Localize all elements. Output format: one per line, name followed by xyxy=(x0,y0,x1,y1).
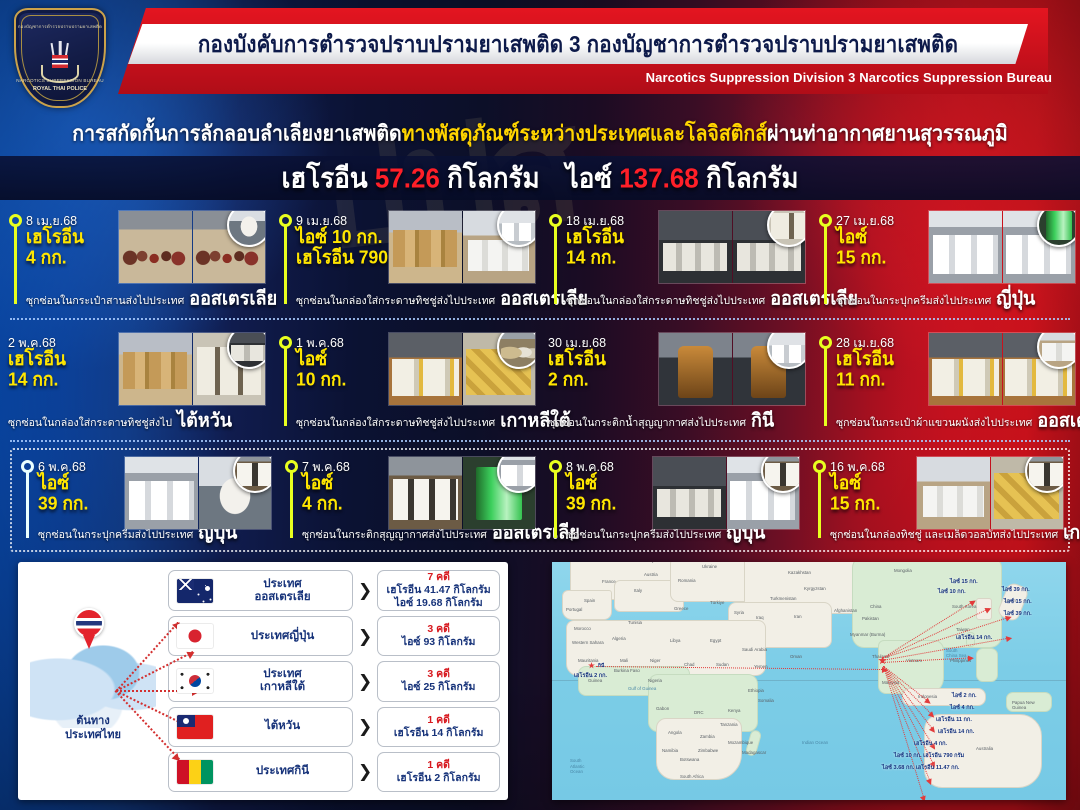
case-amount: ไอซ์ 10 กก. xyxy=(296,349,346,390)
map-route-label-guinea-country: กินี xyxy=(598,662,604,670)
case-description-row: ซุกซ่อนในกล่องใส่กระดาษทิชชู่ส่งไปประเทศ… xyxy=(566,283,806,312)
map-country-label: Algeria xyxy=(612,636,626,641)
destination-stat-line: เฮโรอีน 14 กิโลกรัม xyxy=(394,727,484,740)
timeline-pin-icon xyxy=(819,336,833,426)
map-route-label: ไอซ์ 15 กก. xyxy=(1004,598,1032,606)
case-card[interactable]: 7 พ.ค.68 ไอซ์ 4 กก. ซุกซ่อนในกระติกสุญญา… xyxy=(276,450,540,550)
thailand-origin-map: ต้นทาง ประเทศไทย xyxy=(18,562,168,800)
map-country-label: Afghanistan xyxy=(834,608,857,613)
map-route-label: ไอซ์ 15 กก. xyxy=(950,578,978,586)
evidence-photo xyxy=(119,333,192,405)
timeline-pin-icon xyxy=(819,214,833,304)
total-ice-unit: กิโลกรัม xyxy=(706,161,799,193)
timeline-pin-icon xyxy=(549,214,563,304)
origin-arrow xyxy=(116,622,179,692)
destination-country-box[interactable]: ประเทศกินี xyxy=(168,752,353,792)
case-description-row: ซุกซ่อนในกระเป๋าสานส่งไปประเทศ ออสเตรเลี… xyxy=(26,283,266,312)
map-route-label: ไอซ์ 39 กก. xyxy=(1004,610,1032,618)
total-heroin: เฮโรอีน 57.26 กิโลกรัม xyxy=(282,156,540,200)
timeline-pin-icon xyxy=(279,336,293,426)
destination-stats-box: 7 คดี เฮโรอีน 41.47 กิโลกรัม ไอซ์ 19.68 … xyxy=(377,570,500,611)
case-card[interactable]: 30 เม.ย.68 เฮโรอีน 2 กก. ซุกซ่อนในกระติก… xyxy=(540,326,810,438)
map-country-label: Greece xyxy=(674,606,688,611)
map-country-label: Egypt xyxy=(710,638,721,643)
map-route-label: เฮโรอีน 14 กก. xyxy=(956,634,992,642)
case-description-row: ซุกซ่อนในกล่องใส่กระดาษทิชชู่ส่งไปประเทศ… xyxy=(296,283,536,312)
case-card[interactable]: 8 พ.ค.68 ไอซ์ 39 กก. ซุกซ่อนในกระปุกครีม… xyxy=(540,450,804,550)
map-country-label: Germany xyxy=(636,562,654,563)
flag-australia-icon xyxy=(177,579,213,603)
map-country-label: Iraq xyxy=(756,615,764,620)
map-country-label: Saudi Arabia xyxy=(742,647,767,652)
map-country-label: Western Sahara xyxy=(572,640,604,645)
map-country-label: Iran xyxy=(794,614,802,619)
chevron-right-icon: ❯ xyxy=(358,673,372,690)
map-country-label: Papua New Guinea xyxy=(1012,700,1042,710)
destination-stats-box: 1 คดี เฮโรอีน 2 กิโลกรัม xyxy=(377,752,500,792)
destination-country-name: ประเทศกินี xyxy=(221,765,344,778)
badge-arc-bottom-text-2: ROYAL THAI POLICE xyxy=(14,86,106,92)
destination-stats-box: 1 คดี เฮโรอีน 14 กิโลกรัม xyxy=(377,707,500,747)
map-country-label: Angola xyxy=(668,730,682,735)
timeline-pin-icon xyxy=(549,460,563,538)
destination-country-box[interactable]: ประเทศญี่ปุ่น xyxy=(168,616,353,656)
case-evidence-photos[interactable] xyxy=(658,332,806,406)
case-row-2: 2 พ.ค.68 เฮโรอีน 14 กก. ซุกซ่อนในกล่องใส… xyxy=(0,326,1080,438)
chevron-right-icon: ❯ xyxy=(358,628,372,645)
total-heroin-label: เฮโรอีน xyxy=(282,161,368,193)
page-header: กองบังคับการตำรวจปราบปรามยาเสพติด 3 กองบ… xyxy=(0,0,1080,108)
total-heroin-value: 57.26 xyxy=(375,161,440,193)
case-card[interactable]: 2 พ.ค.68 เฮโรอีน 14 กก. ซุกซ่อนในกล่องใส… xyxy=(0,326,270,438)
destination-rows: ประเทศ ออสเตรเลีย ❯ 7 คดี เฮโรอีน 41.47 … xyxy=(168,562,508,800)
map-country-label: Kenya xyxy=(728,708,740,713)
destination-country-box[interactable]: ประเทศ ออสเตรเลีย xyxy=(168,570,353,611)
evidence-photo xyxy=(929,211,1002,283)
map-country-label: Turkmenistan xyxy=(770,596,796,601)
case-method: ซุกซ่อนในกล่องใส่กระดาษทิชชู่ส่งไปประเทศ xyxy=(296,292,495,309)
map-country-label: Gabon xyxy=(656,706,669,711)
map-country-label: Botswana xyxy=(680,757,699,762)
map-route-label: ไอซ์ 2 กก. xyxy=(952,692,977,700)
case-destination: ญี่ปุ่น xyxy=(996,282,1035,312)
case-method: ซุกซ่อนในกล่องใส่กระดาษทิชชู่ส่งไป xyxy=(8,414,172,431)
case-evidence-photos[interactable] xyxy=(928,332,1076,406)
map-country-label: South Africa xyxy=(680,774,704,779)
case-amount: ไอซ์ 39 กก. xyxy=(38,473,88,514)
total-ice: ไอซ์ 137.68 กิโลกรัม xyxy=(566,156,799,200)
map-country-label: Nigeria xyxy=(648,678,662,683)
total-ice-label: ไอซ์ xyxy=(566,161,612,193)
map-route-label: เฮโรอีน 14 กก. xyxy=(938,728,974,736)
origin-arrow xyxy=(115,690,181,760)
case-evidence-photos[interactable] xyxy=(388,456,536,530)
case-amount: เฮโรอีน 2 กก. xyxy=(548,349,606,390)
case-method: ซุกซ่อนในกล่องใส่กระดาษทิชชู่ส่งไปประเทศ xyxy=(566,292,765,309)
chevron-right-icon: ❯ xyxy=(358,582,372,599)
case-destination: เกาหลีใต้ xyxy=(1063,516,1080,546)
case-timeline: 8 เม.ย.68 เฮโรอีน 4 กก. ซุกซ่อนในกระเป๋า… xyxy=(0,200,1080,555)
world-trafficking-map[interactable]: Germany Ukraine Kazakhstan Mongolia Fran… xyxy=(552,562,1066,800)
destination-case-count: 7 คดี xyxy=(427,571,450,584)
case-method: ซุกซ่อนในกล่องใส่กระดาษทิชชู่ส่งไปประเทศ xyxy=(296,414,495,431)
case-evidence-photos[interactable] xyxy=(916,456,1064,530)
case-amount: ไอซ์ 15 กก. xyxy=(836,227,886,268)
map-country-label: Zambia xyxy=(700,734,715,739)
destination-country-box[interactable]: ไต้หวัน xyxy=(168,707,353,747)
evidence-photo xyxy=(389,333,462,405)
map-country-label: Morocco xyxy=(574,626,591,631)
case-evidence-photos[interactable] xyxy=(118,210,266,284)
mission-banner-part2: ผ่านท่าอากาศยานสุวรรณภูมิ xyxy=(767,116,1008,150)
map-country-label: Kazakhstan xyxy=(788,570,811,575)
timeline-pin-icon xyxy=(813,460,827,538)
destination-stat-line: เฮโรอีน 41.47 กิโลกรัม xyxy=(387,584,491,597)
destination-case-count: 1 คดี xyxy=(427,759,450,772)
case-method: ซุกซ่อนในกระปุกครีมส่งไปประเทศ xyxy=(836,292,991,309)
map-country-label: Zimbabwe xyxy=(698,748,718,753)
case-card[interactable]: 9 เม.ย.68 ไอซ์ 10 กก. เฮโรอีน 790 กรัม ซ… xyxy=(270,204,540,316)
case-row-1: 8 เม.ย.68 เฮโรอีน 4 กก. ซุกซ่อนในกระเป๋า… xyxy=(0,204,1080,316)
destination-country-name: ประเทศ เกาหลีใต้ xyxy=(221,668,344,694)
case-amount: เฮโรอีน 14 กก. xyxy=(566,227,624,268)
map-route-label: ไอซ์ 3.68 กก. เฮโรอีน 11.47 กก. xyxy=(882,764,960,772)
map-country-label: Australia xyxy=(976,746,993,751)
case-row-3: 6 พ.ค.68 ไอซ์ 39 กก. ซุกซ่อนในกระปุกครีม… xyxy=(10,448,1070,552)
destination-stat-line: ไอซ์ 19.68 กิโลกรัม xyxy=(395,597,483,610)
case-amount: ไอซ์ 15 กก. xyxy=(830,473,880,514)
page-subtitle-english: Narcotics Suppression Division 3 Narcoti… xyxy=(352,64,1052,90)
mission-banner-part1: การสกัดกั้นการลักลอบลำเลียงยาเสพติด xyxy=(72,116,401,150)
destination-case-count: 3 คดี xyxy=(427,623,450,636)
destination-row[interactable]: ไต้หวัน ❯ 1 คดี เฮโรอีน 14 กิโลกรัม xyxy=(168,707,500,747)
map-country-label: Libya xyxy=(670,638,681,643)
map-ocean-label: Gulf of Guinea xyxy=(628,686,656,691)
map-country-label: Burkina Faso xyxy=(614,668,640,673)
timeline-pin-icon xyxy=(279,214,293,304)
map-country-label: Syria xyxy=(734,610,744,615)
map-country-label: Madagascar xyxy=(742,750,766,755)
mission-banner-highlight: ทางพัสดุภัณฑ์ระหว่างประเทศและโลจิสติกส์ xyxy=(402,116,767,150)
royal-thai-police-badge: กองบัญชาการตำรวจปราบปรามยาเสพติด NARCOTI… xyxy=(14,8,106,108)
case-destination: ไต้หวัน xyxy=(177,404,232,434)
flag-taiwan-icon xyxy=(177,715,213,739)
evidence-photo xyxy=(389,457,462,529)
map-ocean-label: South China Sea xyxy=(946,648,968,658)
destination-row[interactable]: ประเทศ เกาหลีใต้ ❯ 3 คดี ไอซ์ 25 กิโลกรั… xyxy=(168,661,500,701)
header-title-bar: กองบังคับการตำรวจปราบปรามยาเสพติด 3 กองบ… xyxy=(128,24,1028,64)
map-landmass-iberia xyxy=(562,590,612,620)
destination-case-count: 3 คดี xyxy=(427,668,450,681)
map-route-label: ไอซ์ 10 กก. xyxy=(938,588,966,596)
map-route-label: เฮโรอีน 11 กก. xyxy=(936,716,972,724)
destination-row[interactable]: ประเทศ ออสเตรเลีย ❯ 7 คดี เฮโรอีน 41.47 … xyxy=(168,570,500,611)
map-country-label: Ukraine xyxy=(702,564,717,569)
evidence-photo xyxy=(119,211,192,283)
map-ocean-label: South Atlantic Ocean xyxy=(570,758,596,775)
timeline-pin-icon xyxy=(9,214,23,304)
total-heroin-unit: กิโลกรัม xyxy=(447,161,540,193)
case-description-row: ซุกซ่อนในกระติกน้ำสุญญากาศส่งไปประเทศ กิ… xyxy=(548,405,806,434)
map-ocean-label: Indian Ocean xyxy=(802,740,828,745)
map-country-label: Sudan xyxy=(716,662,729,667)
flag-guinea-icon xyxy=(177,760,213,784)
case-evidence-photos[interactable] xyxy=(928,210,1076,284)
destination-case-count: 1 คดี xyxy=(427,714,450,727)
case-card[interactable]: 8 เม.ย.68 เฮโรอีน 4 กก. ซุกซ่อนในกระเป๋า… xyxy=(0,204,270,316)
case-evidence-photos[interactable] xyxy=(118,332,266,406)
map-country-label: Portugal xyxy=(566,607,582,612)
chevron-right-icon: ❯ xyxy=(358,763,372,780)
map-country-label: Mongolia xyxy=(894,568,912,573)
case-evidence-photos[interactable] xyxy=(652,456,800,530)
case-description-row: ซุกซ่อนในกล่องใส่กระดาษทิชชู่ส่งไป ไต้หว… xyxy=(8,405,266,434)
map-landmass-philippines xyxy=(976,648,998,682)
map-route-label: ไอซ์ 10 กก. เฮโรอีน 790 กรัม xyxy=(894,752,964,760)
case-destination: ออสเตรเลีย xyxy=(189,282,277,312)
map-route-label: ไอซ์ 39 กก. xyxy=(1002,586,1030,594)
map-country-label: Oman xyxy=(790,654,802,659)
evidence-photo xyxy=(653,457,726,529)
map-country-label: China xyxy=(870,604,881,609)
badge-arc-top-text: กองบัญชาการตำรวจปราบปรามยาเสพติด xyxy=(14,23,106,30)
row-separator-1 xyxy=(10,318,1070,320)
mission-banner: การสกัดกั้นการลักลอบลำเลียงยาเสพติด ทางพ… xyxy=(0,112,1080,154)
case-description-row: ซุกซ่อนในกระปุกครีมส่งไปประเทศ ญี่ปุ่น xyxy=(836,283,1076,312)
case-method: ซุกซ่อนในกระเป๋าสานส่งไปประเทศ xyxy=(26,292,184,309)
map-landmass-australia xyxy=(924,714,1042,788)
case-description-row: ซุกซ่อนในกล่องใส่กระดาษทิชชู่ส่งไปประเทศ… xyxy=(296,405,536,434)
destination-stat-line: เฮโรอีน 2 กิโลกรัม xyxy=(397,772,481,785)
row-separator-2 xyxy=(10,440,1070,442)
map-country-label: Niger xyxy=(650,658,661,663)
destination-stats-box: 3 คดี ไอซ์ 93 กิโลกรัม xyxy=(377,616,500,656)
evidence-photo xyxy=(929,333,1002,405)
case-card[interactable]: 28 เม.ย.68 เฮโรอีน 11 กก. ซุกซ่อนในกระเป… xyxy=(810,326,1080,438)
map-country-label: Pakistan xyxy=(862,616,879,621)
case-method: ซุกซ่อนในกระติกน้ำสุญญากาศส่งไปประเทศ xyxy=(548,414,746,431)
case-evidence-photos[interactable] xyxy=(658,210,806,284)
evidence-photo xyxy=(659,211,732,283)
destination-stat-line: ไอซ์ 93 กิโลกรัม xyxy=(402,636,476,649)
destination-summary-panel: ต้นทาง ประเทศไทย ประเทศ ออสเตรเลีย ❯ 7 ค… xyxy=(18,562,508,800)
evidence-photo xyxy=(917,457,990,529)
case-card[interactable]: 6 พ.ค.68 ไอซ์ 39 กก. ซุกซ่อนในกระปุกครีม… xyxy=(12,450,276,550)
map-country-label: Türkiye xyxy=(710,600,724,605)
case-evidence-photos[interactable] xyxy=(388,210,536,284)
case-destination: ออสเตรเลีย xyxy=(1037,404,1080,434)
destination-row[interactable]: ประเทศกินี ❯ 1 คดี เฮโรอีน 2 กิโลกรัม xyxy=(168,752,500,792)
destination-country-name: ประเทศ ออสเตรเลีย xyxy=(221,578,344,604)
case-amount: ไอซ์ 4 กก. xyxy=(302,473,343,514)
case-amount: เฮโรอีน 14 กก. xyxy=(8,349,66,390)
destination-country-name: ประเทศญี่ปุ่น xyxy=(221,630,344,643)
map-route-label: ไอซ์ 4 กก. xyxy=(950,704,975,712)
map-country-label: Tunisia xyxy=(628,620,642,625)
case-destination: กินี xyxy=(751,404,774,434)
map-country-label: DRC xyxy=(694,710,704,715)
map-country-label: Kyrgyzstan xyxy=(804,586,826,591)
destination-country-name: ไต้หวัน xyxy=(221,720,344,733)
total-ice-value: 137.68 xyxy=(619,161,699,193)
case-amount: เฮโรอีน 11 กก. xyxy=(836,349,894,390)
evidence-photo xyxy=(125,457,198,529)
map-country-label: Mali xyxy=(620,658,628,663)
map-country-label: Italy xyxy=(634,588,642,593)
map-route-label: เฮโรอีน 4 กก. xyxy=(914,740,947,748)
case-card[interactable]: 27 เม.ย.68 ไอซ์ 15 กก. ซุกซ่อนในกระปุกคร… xyxy=(810,204,1080,316)
map-country-label: Somalia xyxy=(758,698,774,703)
chevron-right-icon: ❯ xyxy=(358,718,372,735)
page-title: กองบังคับการตำรวจปราบปรามยาเสพติด 3 กองบ… xyxy=(198,26,958,63)
case-amount: เฮโรอีน 4 กก. xyxy=(26,227,84,268)
destination-stats-box: 3 คดี ไอซ์ 25 กิโลกรัม xyxy=(377,661,500,701)
badge-emblem xyxy=(37,41,83,83)
map-country-label: France xyxy=(602,579,616,584)
map-country-label: Myanmar (Burma) xyxy=(850,632,885,637)
destination-row[interactable]: ประเทศญี่ปุ่น ❯ 3 คดี ไอซ์ 93 กิโลกรัม xyxy=(168,616,500,656)
case-card[interactable]: 18 เม.ย.68 เฮโรอีน 14 กก. ซุกซ่อนในกล่อง… xyxy=(540,204,810,316)
case-method: ซุกซ่อนในกระเป๋าผ้าแขวนผนังส่งไปประเทศ xyxy=(836,414,1032,431)
destination-stat-line: ไอซ์ 25 กิโลกรัม xyxy=(402,681,476,694)
thailand-map-pin-icon xyxy=(74,608,104,650)
case-evidence-photos[interactable] xyxy=(388,332,536,406)
timeline-pin-icon xyxy=(285,460,299,538)
flag-southkorea-icon xyxy=(177,669,213,693)
case-description-row: ซุกซ่อนในกระเป๋าผ้าแขวนผนังส่งไปประเทศ อ… xyxy=(836,405,1076,434)
map-country-label: Namibia xyxy=(662,748,678,753)
flag-japan-icon xyxy=(177,624,213,648)
infographic-root: ปปส กองบังคับการตำรวจปราบปรามยาเสพติด 3 … xyxy=(0,0,1080,810)
map-route-label: เฮโรอีน 2 กก. xyxy=(574,672,607,680)
case-card[interactable]: 1 พ.ค.68 ไอซ์ 10 กก. ซุกซ่อนในกล่องใส่กร… xyxy=(270,326,540,438)
totals-bar: เฮโรอีน 57.26 กิโลกรัม ไอซ์ 137.68 กิโลก… xyxy=(0,156,1080,200)
map-country-label: Romania xyxy=(678,578,696,583)
map-country-label: Spain xyxy=(584,598,595,603)
map-country-label: Austria xyxy=(644,572,658,577)
map-country-label: Mozambique xyxy=(728,740,753,745)
origin-arrows xyxy=(114,580,184,790)
evidence-photo xyxy=(389,211,462,283)
badge-arc-bottom-text: NARCOTICS SUPPRESSION BUREAU xyxy=(14,78,106,83)
map-country-label: Tanzania xyxy=(720,722,738,727)
timeline-pin-icon xyxy=(21,460,35,538)
case-evidence-photos[interactable] xyxy=(124,456,272,530)
evidence-photo xyxy=(659,333,732,405)
case-card[interactable]: 16 พ.ค.68 ไอซ์ 15 กก. ซุกซ่อนในกล่องทิชช… xyxy=(804,450,1068,550)
case-amount: ไอซ์ 39 กก. xyxy=(566,473,616,514)
map-country-label: Ethiopia xyxy=(748,688,764,693)
map-country-label: Mauritania xyxy=(578,658,599,663)
